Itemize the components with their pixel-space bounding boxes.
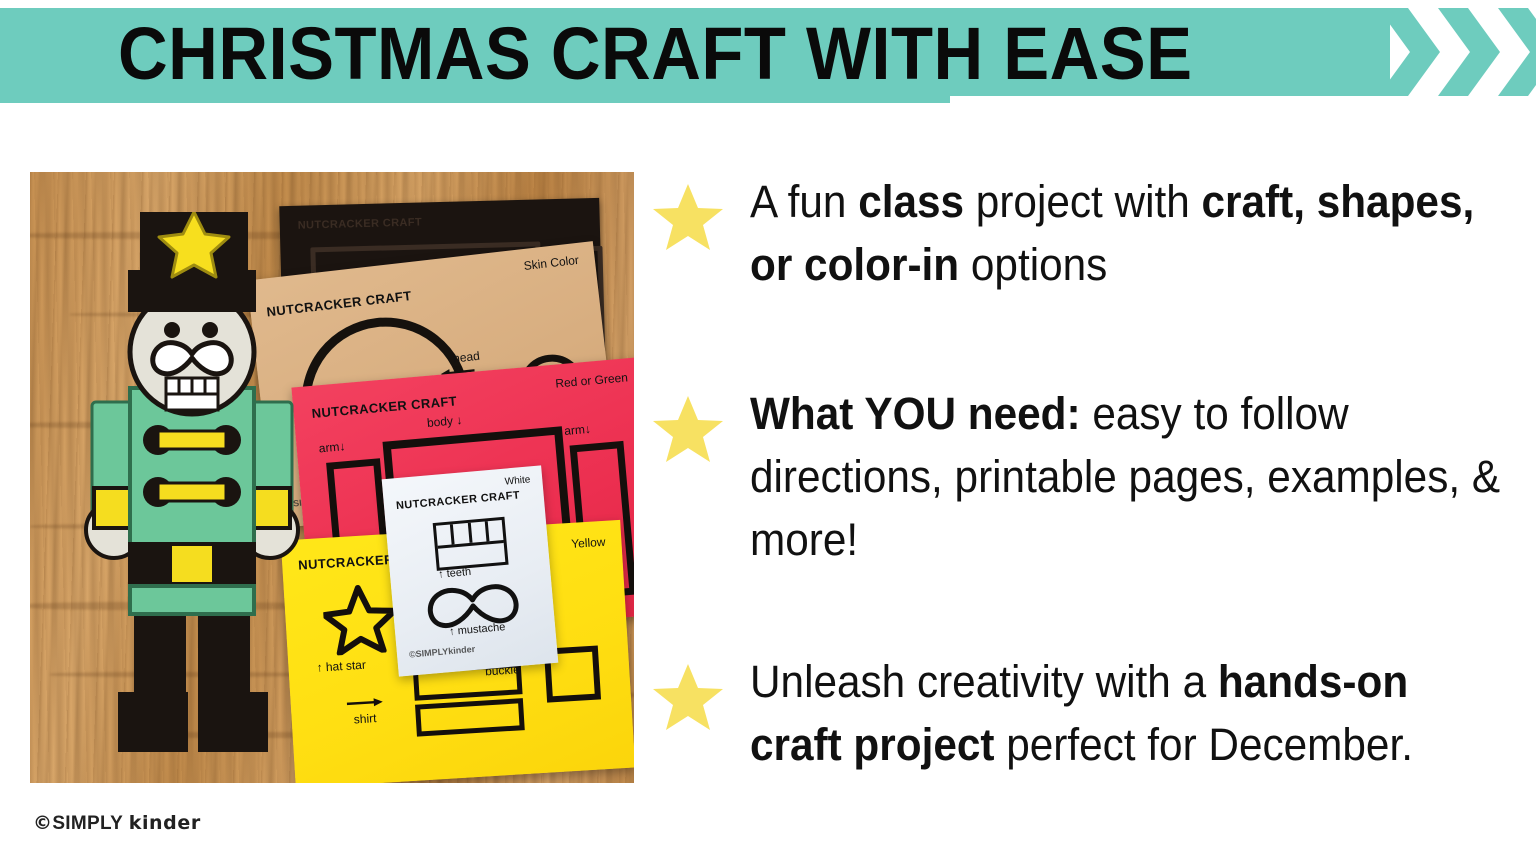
sheet-corner-yellow: Yellow bbox=[571, 535, 606, 551]
label-arm-left: arm↓ bbox=[318, 439, 346, 455]
arrow-right-icon bbox=[346, 695, 383, 711]
list-item: Unleash creativity with a hands-on craft… bbox=[652, 650, 1536, 776]
craft-sheet-white: NUTCRACKER CRAFT White ↑ teeth ↑ mustach… bbox=[382, 465, 559, 676]
list-item: A fun class project with craft, shapes, … bbox=[652, 170, 1536, 296]
header-banner: CHRISTMAS CRAFT WITH EASE bbox=[0, 0, 1536, 104]
label-arm-right: arm↓ bbox=[564, 422, 592, 438]
sheet-header-black: NUTCRACKER CRAFT bbox=[298, 216, 423, 231]
cutout-teeth bbox=[433, 517, 509, 571]
assembled-nutcracker-figure bbox=[82, 212, 302, 752]
feature-bullet-list: A fun class project with craft, shapes, … bbox=[652, 160, 1520, 820]
brand-credit: ©SIMPLY kinder bbox=[33, 812, 201, 835]
sheet-corner-white: White bbox=[504, 474, 530, 487]
cutout-rect-shirt bbox=[415, 698, 525, 737]
sheet-header-white: NUTCRACKER CRAFT bbox=[396, 489, 521, 512]
page-title: CHRISTMAS CRAFT WITH EASE bbox=[118, 12, 1290, 96]
label-teeth: ↑ teeth bbox=[438, 566, 472, 581]
label-shirt: shirt bbox=[353, 711, 376, 726]
star-icon bbox=[652, 662, 724, 732]
star-icon bbox=[652, 182, 724, 252]
nutcracker-craft-photo: NUTCRACKER CRAFT NUTCRACKER CRAFT Skin C… bbox=[30, 172, 634, 783]
label-head: head bbox=[452, 349, 480, 366]
cutout-star-hat bbox=[322, 582, 398, 656]
brand-name-bold: SIMPLY bbox=[52, 813, 123, 834]
label-body: body ↓ bbox=[426, 413, 462, 430]
sheet-corner-red-or-green: Red or Green bbox=[555, 370, 629, 390]
brand-name-script: kinder bbox=[129, 812, 201, 834]
bullet-text-1: A fun class project with craft, shapes, … bbox=[750, 170, 1511, 296]
watermark: ©SIMPLYkinder bbox=[409, 644, 476, 660]
list-item: What YOU need: easy to follow directions… bbox=[652, 382, 1536, 571]
copyright-icon: © bbox=[33, 812, 52, 834]
chevron-right-icon bbox=[1498, 8, 1536, 96]
sheet-corner-skin-color: Skin Color bbox=[523, 253, 580, 273]
bullet-text-3: Unleash creativity with a hands-on craft… bbox=[750, 650, 1511, 776]
bullet-text-2: What YOU need: easy to follow directions… bbox=[750, 382, 1511, 571]
label-hat-star: ↑ hat star bbox=[316, 658, 366, 675]
star-icon bbox=[652, 394, 724, 464]
